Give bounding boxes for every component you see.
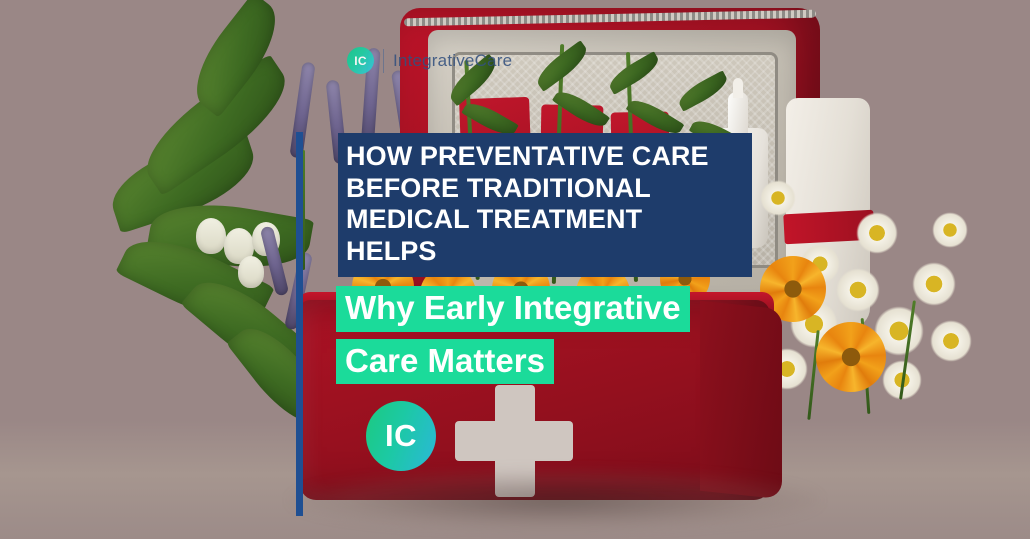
vertical-accent-rule — [296, 132, 303, 516]
brand-logo-lockup[interactable]: IC IntegrativeCare — [347, 47, 512, 74]
chamomile-flower — [912, 262, 956, 306]
headline-line: HELPS — [346, 236, 742, 268]
chamomile-flower — [760, 180, 796, 216]
flower — [196, 218, 226, 254]
subhead-block: Why Early Integrative Care Matters — [336, 286, 690, 384]
flower — [238, 256, 264, 288]
subhead-line: Why Early Integrative — [336, 286, 690, 332]
brand-wordmark: IntegrativeCare — [393, 51, 512, 71]
bottle-tip — [733, 78, 743, 98]
headline-line: MEDICAL TREATMENT — [346, 204, 742, 236]
chamomile-flower — [836, 268, 880, 312]
ic-logo-icon: IC — [347, 47, 374, 74]
poster-canvas: IC IntegrativeCare HOW PREVENTATIVE CARE… — [0, 0, 1030, 539]
ic-badge: IC — [366, 401, 436, 471]
chamomile-flower — [930, 320, 972, 362]
chamomile-flower — [932, 212, 968, 248]
floor-shadow — [290, 470, 820, 530]
chamomile-flower — [856, 212, 898, 254]
bottle-neck — [728, 92, 748, 138]
bag-side-panel — [700, 301, 782, 500]
headline-line: HOW PREVENTATIVE CARE — [346, 141, 742, 173]
subhead-line: Care Matters — [336, 339, 554, 385]
marigold-flower — [816, 322, 886, 392]
headline-line: BEFORE TRADITIONAL — [346, 173, 742, 205]
headline-banner: HOW PREVENTATIVE CARE BEFORE TRADITIONAL… — [338, 133, 752, 277]
logo-divider — [383, 49, 384, 73]
